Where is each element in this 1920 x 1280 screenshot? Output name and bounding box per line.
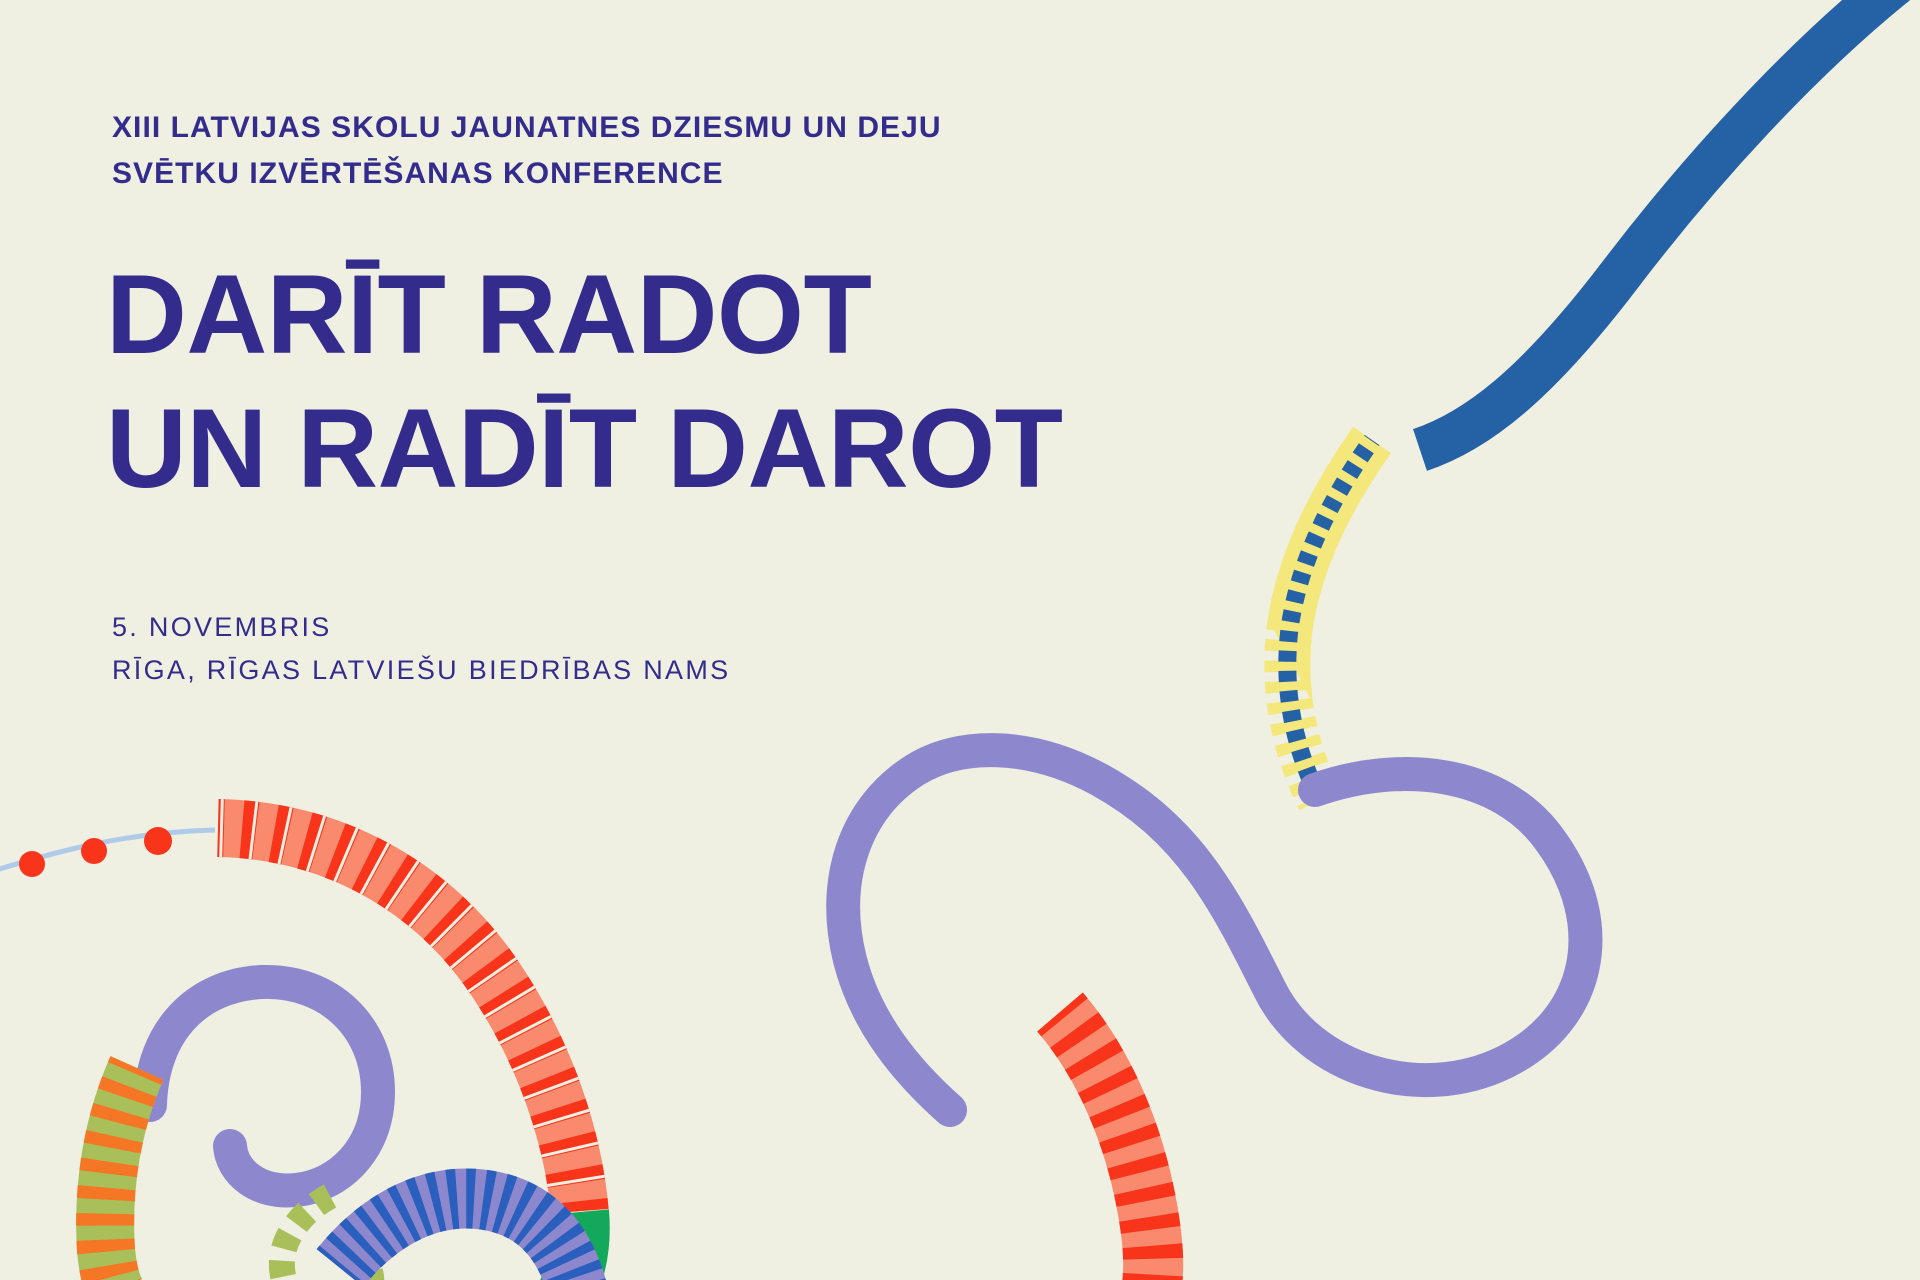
event-details: 5. NOVEMBRIS RĪGA, RĪGAS LATVIEŠU BIEDRĪ… <box>112 606 730 692</box>
headline-line-1: DARĪT RADOT <box>106 248 1063 382</box>
eyebrow-line-1: XIII LATVIJAS SKOLU JAUNATNES DZIESMU UN… <box>112 105 1212 151</box>
headline-line-2: UN RADĪT DAROT <box>106 382 1063 516</box>
text-content: XIII LATVIJAS SKOLU JAUNATNES DZIESMU UN… <box>0 0 1920 1280</box>
eyebrow-line-2: SVĒTKU IZVĒRTĒŠANAS KONFERENCE <box>112 151 1212 197</box>
conference-eyebrow: XIII LATVIJAS SKOLU JAUNATNES DZIESMU UN… <box>112 105 1212 196</box>
event-venue: RĪGA, RĪGAS LATVIEŠU BIEDRĪBAS NAMS <box>112 649 730 692</box>
page-title: DARĪT RADOT UN RADĪT DAROT <box>106 248 1063 517</box>
event-date: 5. NOVEMBRIS <box>112 606 730 649</box>
poster-canvas: XIII LATVIJAS SKOLU JAUNATNES DZIESMU UN… <box>0 0 1920 1280</box>
